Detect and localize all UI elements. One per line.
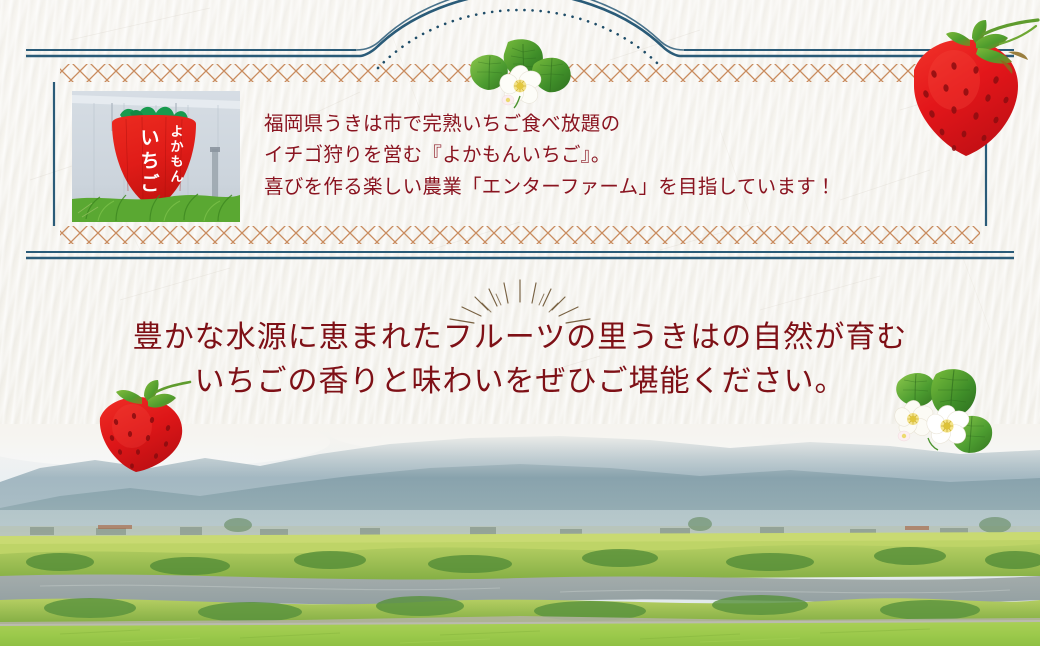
svg-text:ご: ご [140,172,159,195]
svg-text:い: い [140,128,159,149]
farm-sign-photo: よ か も ん い ち ご [72,91,240,222]
strawberry-large-icon [896,18,1040,166]
svg-text:ん: ん [170,169,183,184]
intro-paragraph: 福岡県うきは市で完熟いちご食べ放題の イチゴ狩りを営む『よかもんいちご』。 喜び… [264,109,836,204]
intro-line-3: 喜びを作る楽しい農業「エンターファーム」を目指しています！ [264,172,836,204]
headline-line-1: 豊かな水源に恵まれたフルーツの里うきはの自然が育む [0,316,1040,360]
intro-line-2: イチゴ狩りを営む『よかもんいちご』。 [264,140,836,172]
strawberry-small-icon [88,378,194,474]
intro-line-1: 福岡県うきは市で完熟いちご食べ放題の [264,109,836,141]
svg-text:か: か [170,139,183,154]
strawberry-flower-icon [456,36,582,108]
svg-text:ち: ち [140,150,159,172]
strawberry-flower-icon [884,358,1016,466]
svg-text:も: も [170,154,183,169]
promo-page: よ か も ん い ち ご [0,0,1040,646]
svg-text:よ: よ [170,124,183,139]
